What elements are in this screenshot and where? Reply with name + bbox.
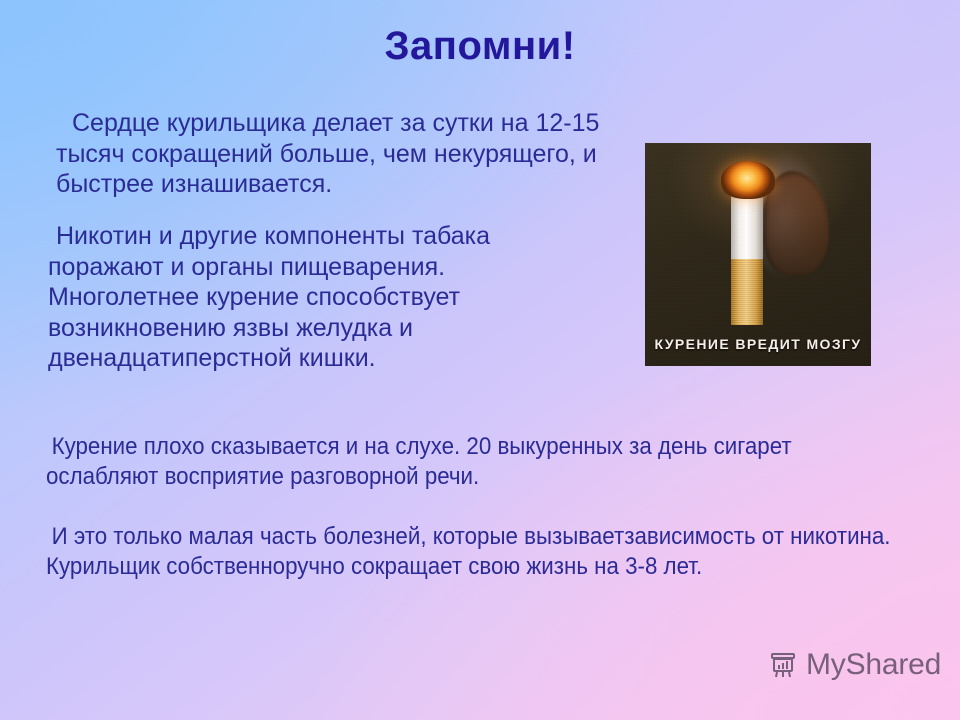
paragraph-life-expectancy: И это только малая часть болезней, котор… bbox=[46, 522, 911, 582]
presentation-board-icon bbox=[768, 650, 798, 680]
cigarette-warning-image: КУРЕНИЕ ВРЕДИТ МОЗГУ bbox=[645, 143, 871, 366]
photo-grain-overlay bbox=[645, 143, 871, 366]
paragraph-heart-rate: Сердце курильщика делает за сутки на 12-… bbox=[56, 108, 626, 200]
slide-canvas: Запомни! Сердце курильщика делает за сут… bbox=[0, 0, 960, 720]
paragraph-hearing: Курение плохо сказывается и на слухе. 20… bbox=[46, 432, 902, 492]
watermark-label: MyShared bbox=[806, 648, 941, 682]
watermark: MyShared bbox=[768, 648, 941, 682]
page-title: Запомни! bbox=[0, 24, 960, 68]
paragraph-nicotine-digestion: Никотин и другие компоненты табака пораж… bbox=[48, 221, 593, 374]
photo-caption: КУРЕНИЕ ВРЕДИТ МОЗГУ bbox=[645, 336, 871, 352]
